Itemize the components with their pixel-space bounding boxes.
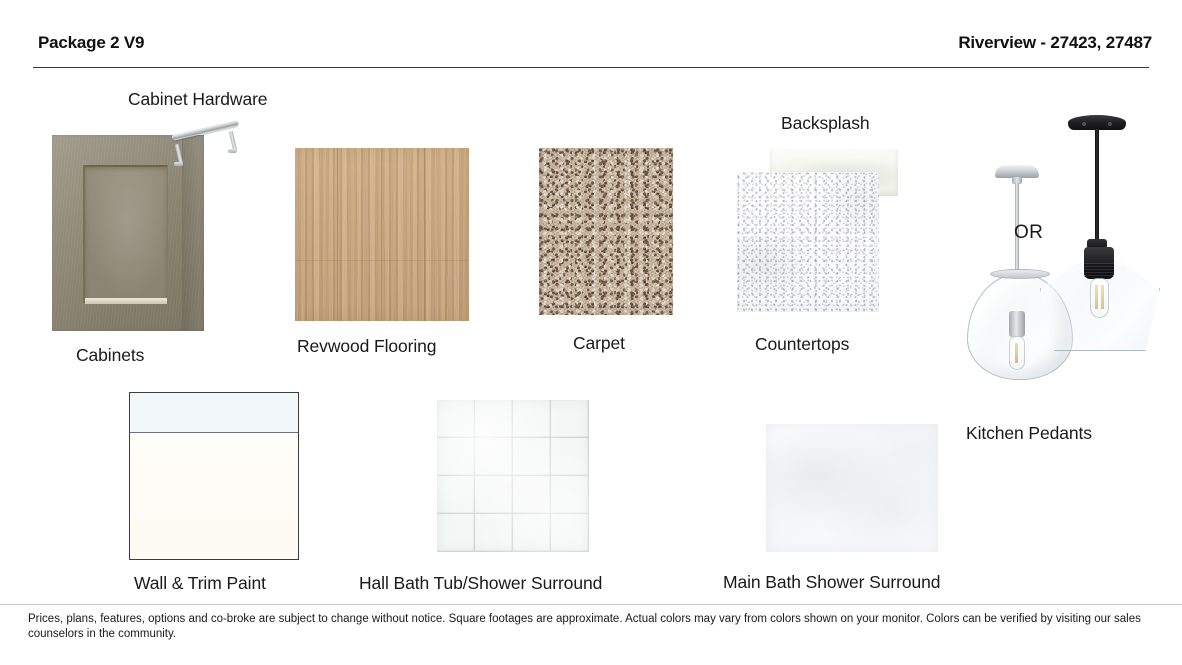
header-divider (33, 67, 1149, 68)
black-pendant-light (1040, 115, 1160, 353)
cabinet-hardware-label: Cabinet Hardware (128, 89, 267, 110)
countertops-label: Countertops (755, 334, 849, 355)
bar-pull-handle (171, 120, 239, 141)
cabinet-bar-pull-hardware (168, 122, 246, 176)
page-header: Package 2 V9 Riverview - 27423, 27487 (0, 0, 1182, 68)
page-title: Package 2 V9 (38, 33, 144, 53)
main-bath-label: Main Bath Shower Surround (723, 572, 940, 593)
cabinet-recessed-panel (83, 165, 168, 303)
footer-divider (0, 604, 1182, 605)
wall-trim-paint-swatch (129, 392, 299, 560)
revwood-flooring-label: Revwood Flooring (297, 336, 436, 357)
backsplash-label: Backsplash (781, 113, 870, 134)
community-name: Riverview - 27423, 27487 (958, 33, 1152, 53)
pendant-socket-nickel (1009, 311, 1025, 337)
surround-surface-texture (766, 424, 938, 552)
carpet-fiber-highlights (539, 148, 673, 315)
countertop-speckles (737, 172, 879, 312)
carpet-label: Carpet (573, 333, 625, 354)
countertop-quartz-swatch (737, 172, 879, 312)
pendant-filament-nickel (1015, 343, 1018, 363)
pendant-canopy-screws (1080, 121, 1114, 127)
pendant-cord-black (1095, 129, 1099, 241)
pendant-filament-black-2 (1101, 285, 1104, 309)
cabinets-label: Cabinets (76, 345, 144, 366)
pendant-filament-black-1 (1095, 285, 1098, 309)
flooring-plank-seams (295, 148, 469, 321)
revwood-flooring-swatch (295, 148, 469, 321)
bar-pull-foot-right (228, 149, 237, 153)
carpet-swatch (539, 148, 673, 315)
cabinet-panel-lip (85, 298, 167, 304)
paint-wall-color-body (130, 434, 298, 559)
legal-disclaimer: Prices, plans, features, options and co-… (28, 612, 1148, 642)
pendant-bulb-black-icon (1090, 278, 1109, 318)
pendant-socket-ridges (1084, 263, 1114, 277)
tile-gloss-sheen (437, 400, 589, 552)
pendant-or-separator: OR (1014, 222, 1043, 244)
wall-trim-paint-label: Wall & Trim Paint (134, 573, 266, 594)
kitchen-pendants-label: Kitchen Pedants (966, 423, 1092, 444)
hall-bath-tile-swatch (437, 400, 589, 552)
hall-bath-label: Hall Bath Tub/Shower Surround (359, 573, 602, 594)
bar-pull-foot-left (174, 162, 183, 166)
paint-trim-color-band (130, 393, 298, 433)
main-bath-surround-swatch (766, 424, 938, 552)
